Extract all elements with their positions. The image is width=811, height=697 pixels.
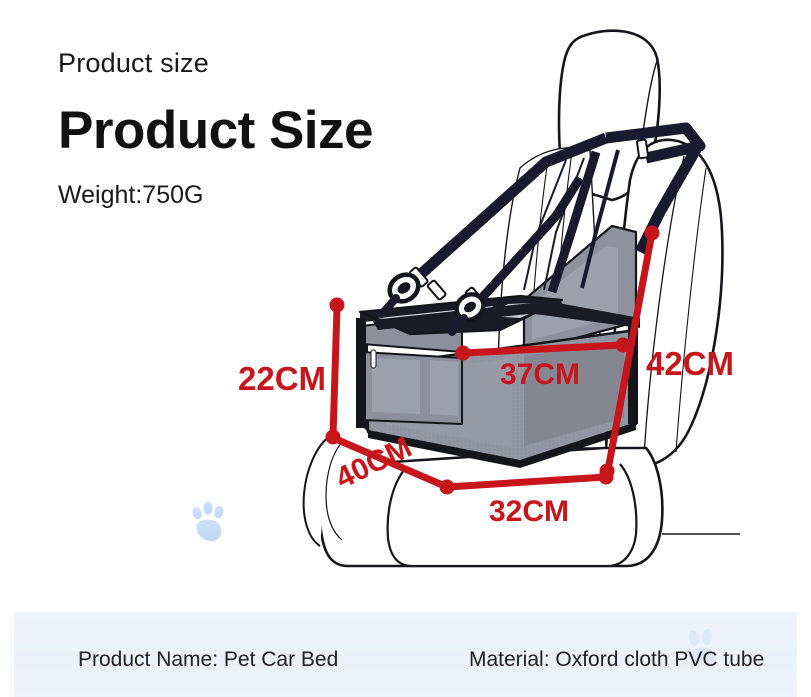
- material-text: Material: Oxford cloth PVC tube: [469, 648, 764, 672]
- footer-text-row: Product Name: Pet Car Bed Material: Oxfo…: [14, 612, 797, 697]
- product-info-footer: Product Name: Pet Car Bed Material: Oxfo…: [14, 612, 797, 697]
- dimension-label-37cm: 37CM: [500, 360, 580, 390]
- product-size-infographic: Product size Product Size Weight:750G: [0, 0, 811, 697]
- dimension-line-22cm: [333, 308, 337, 436]
- dimension-label-42cm: 42CM: [646, 347, 734, 380]
- dimension-label-22cm: 22CM: [238, 362, 326, 395]
- paw-print-icon: [191, 501, 225, 541]
- product-name-text: Product Name: Pet Car Bed: [78, 648, 338, 672]
- dimension-label-32cm: 32CM: [489, 497, 569, 527]
